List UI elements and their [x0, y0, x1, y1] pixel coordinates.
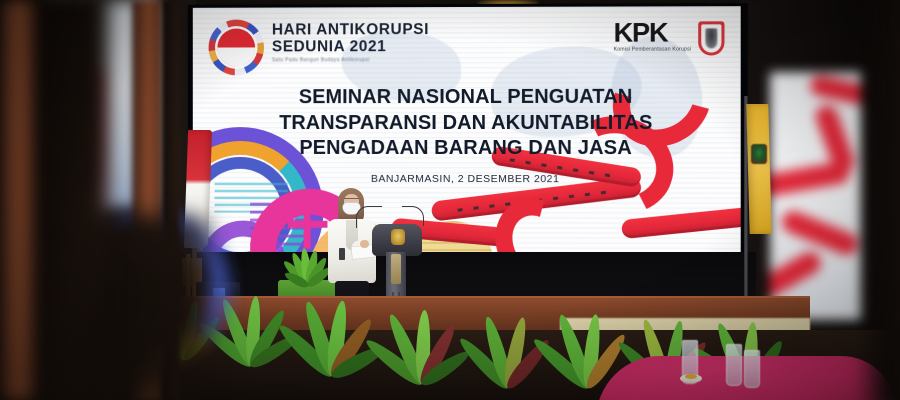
slide-title-block: SEMINAR NASIONAL PENGUATAN TRANSPARANSI … [193, 85, 741, 185]
secondary-projection-screen [770, 72, 862, 320]
kpk-subtitle: Komisi Pemberantasan Korupsi [614, 47, 692, 53]
foreground-plant [284, 300, 380, 376]
secondary-ribbon-4 [770, 248, 825, 302]
slide-title-line-1: SEMINAR NASIONAL PENGUATAN [193, 85, 741, 111]
podium-column [386, 252, 406, 296]
hakordia-circle-logo [209, 20, 264, 76]
secondary-ribbon-3 [779, 208, 861, 258]
kpk-wordmark-block: KPK Komisi Pemberantasan Korupsi [614, 20, 692, 52]
slide-title-line-2: TRANSPARANSI DAN AKUNTABILITAS [193, 110, 741, 136]
kpk-logo: KPK Komisi Pemberantasan Korupsi [614, 20, 725, 55]
drinking-glass [726, 344, 742, 386]
wood-pillar-left [0, 0, 34, 400]
speaker-id-badge [339, 248, 345, 260]
kpk-shield-icon [698, 21, 724, 55]
secondary-ribbon-5 [809, 74, 862, 106]
speaker-glasses [344, 198, 359, 202]
provincial-flag [746, 104, 771, 234]
hakordia-line-2: SEDUNIA 2021 [272, 38, 429, 55]
photo-scene: HARI ANTIKORUPSI SEDUNIA 2021 Satu Padu … [0, 0, 900, 400]
microphone-right [402, 206, 424, 226]
slide-date-line: BANJARMASIN, 2 DESEMBER 2021 [193, 172, 741, 185]
hakordia-line-1: HARI ANTIKORUPSI [272, 21, 429, 38]
decor-bar-pink-horizontal [288, 221, 328, 228]
foreground-plate-food [685, 374, 697, 379]
garuda-emblem-icon [391, 229, 405, 245]
slide-title-line-3: PENGADAAN BARANG DAN JASA [193, 136, 741, 162]
drinking-glass [744, 350, 760, 388]
foreground-plant [372, 306, 472, 384]
provincial-flag-emblem [751, 144, 767, 164]
speaker-hand [360, 240, 369, 248]
blurred-foreground-right-column [856, 0, 900, 400]
projection-screen: HARI ANTIKORUPSI SEDUNIA 2021 Satu Padu … [193, 6, 741, 270]
hakordia-logo-text: HARI ANTIKORUPSI SEDUNIA 2021 Satu Padu … [272, 21, 429, 63]
hakordia-tagline: Satu Padu Bangun Budaya Antikorupsi [272, 57, 429, 63]
kpk-shield-inner-emblem [705, 28, 717, 48]
kpk-wordmark: KPK [614, 20, 692, 45]
